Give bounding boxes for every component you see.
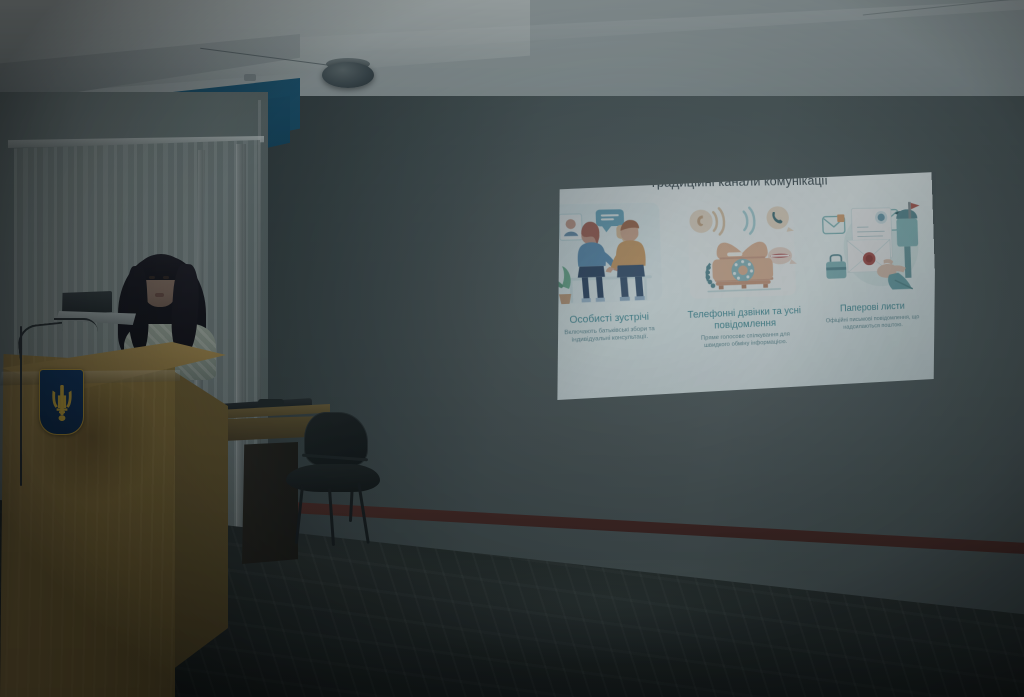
slide-column-subtitle: Пряме голосове спілкування для швидкого …: [683, 331, 807, 353]
podium-side-panel: [172, 370, 228, 670]
light-fixture-dome: [322, 62, 374, 88]
slide-column-title: Телефонні дзвінки та усні повідомлення: [682, 305, 807, 334]
lecture-hall-photo: Традиційні канали комунікації: [0, 0, 1024, 697]
slide-column-subtitle: Включають батьківські збори та індивідуа…: [543, 325, 675, 347]
presenter-mouth: [155, 293, 164, 297]
ukrainian-coat-of-arms: [39, 369, 84, 435]
chair-leg: [328, 488, 335, 546]
slide-column: Телефонні дзвінки та усні повідомлення П…: [678, 196, 807, 352]
chair-leg: [357, 482, 370, 544]
chair-leg: [295, 484, 304, 544]
podium: [0, 330, 226, 697]
ceiling-wire-clip: [244, 74, 256, 81]
projected-slide[interactable]: Традиційні канали комунікації: [552, 172, 936, 400]
floor-highlight: [380, 560, 940, 697]
ceiling-light-icon: [322, 58, 374, 90]
rotary-telephone-illustration: [678, 196, 806, 305]
presenter-eye: [149, 276, 155, 279]
slide-columns: Особисті зустрічі Включають батьківські …: [539, 194, 934, 412]
hand-holding-sealed-letter-illustration: [810, 194, 930, 300]
black-office-chair[interactable]: [286, 412, 382, 546]
slide-surface: Традиційні канали комунікації: [530, 164, 939, 419]
slide-column: Паперові листи Офіційні письмові повідом…: [810, 194, 932, 334]
presenter-eye: [163, 276, 169, 279]
slide-column-subtitle: Офіційні письмові повідомлення, що надси…: [814, 313, 931, 334]
